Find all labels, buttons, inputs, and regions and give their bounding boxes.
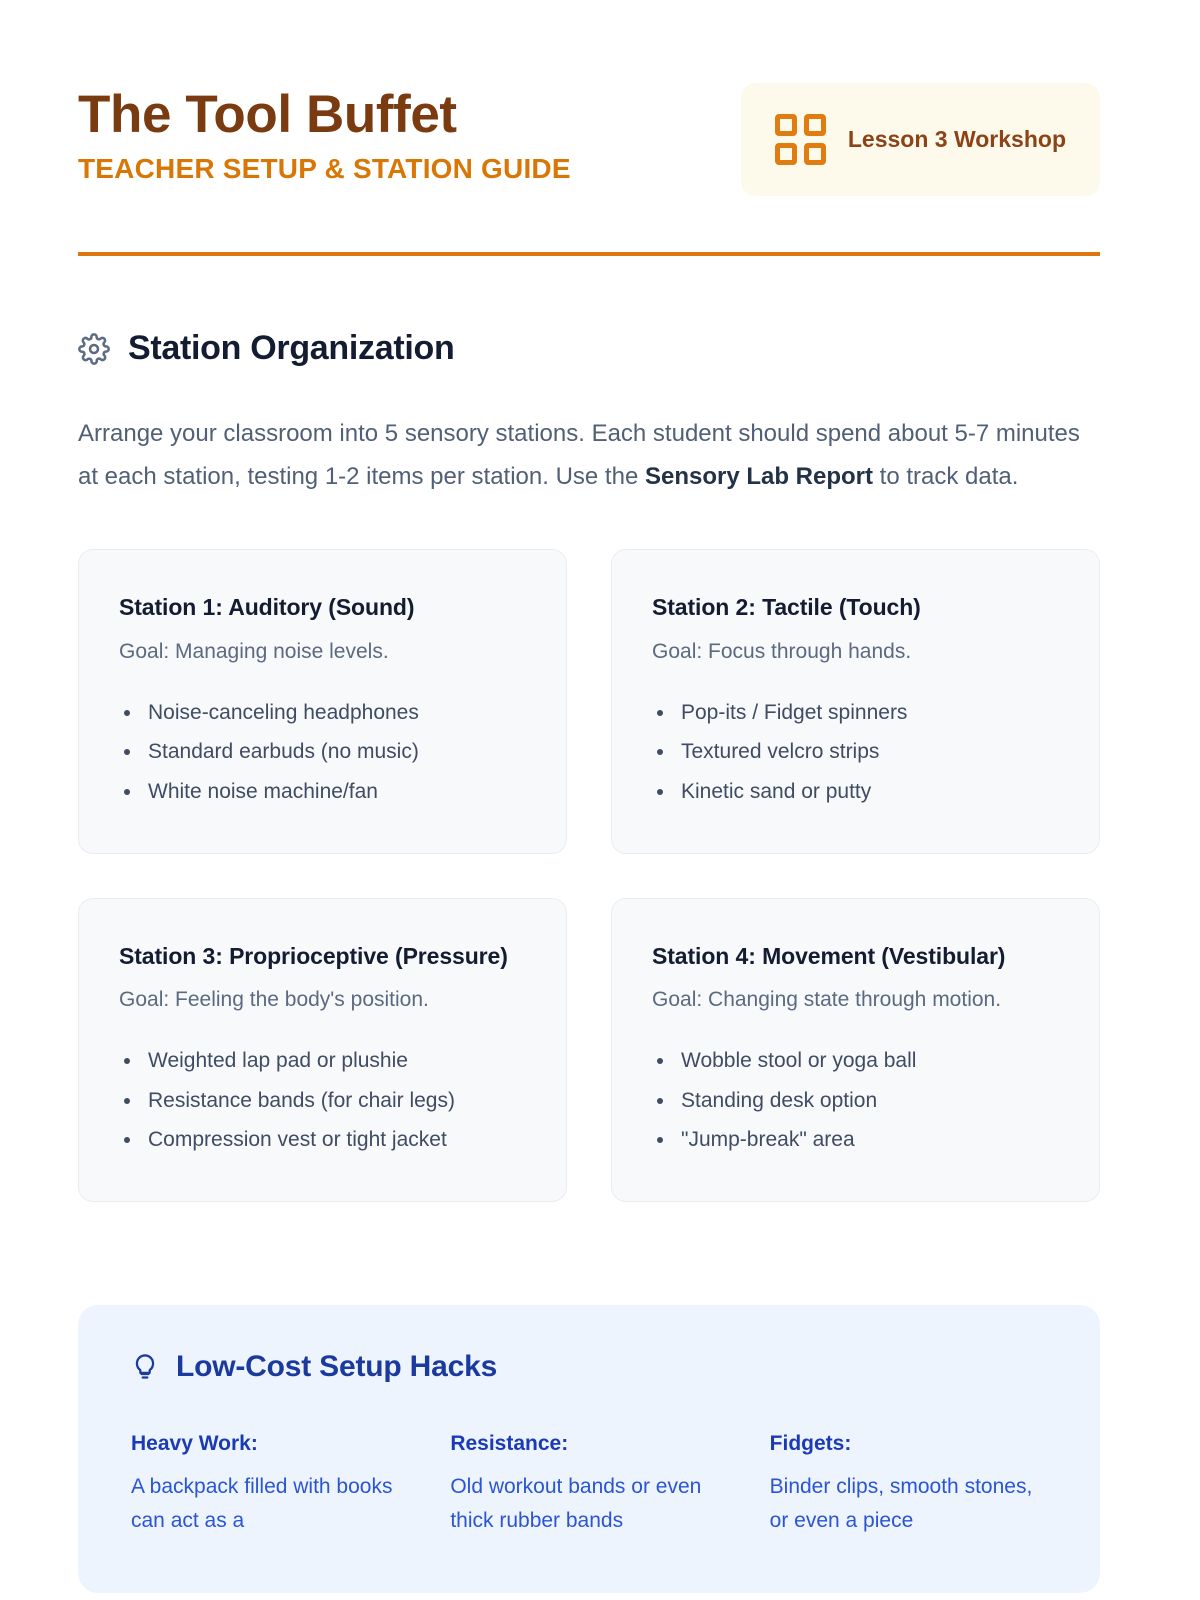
list-item: Kinetic sand or putty [652, 772, 1059, 811]
list-item: Wobble stool or yoga ball [652, 1041, 1059, 1080]
lightbulb-icon [131, 1353, 159, 1381]
station-card-title: Station 3: Proprioceptive (Pressure) [119, 937, 526, 976]
station-item-list: Noise-canceling headphones Standard earb… [119, 693, 526, 811]
hack-label: Heavy Work: [131, 1429, 408, 1458]
station-card-title: Station 2: Tactile (Touch) [652, 588, 1059, 627]
station-card-goal: Goal: Managing noise levels. [119, 636, 526, 668]
list-item: White noise machine/fan [119, 772, 526, 811]
section-title: Station Organization [128, 329, 454, 368]
lesson-badge-label: Lesson 3 Workshop [848, 126, 1066, 153]
station-card[interactable]: Station 2: Tactile (Touch) Goal: Focus t… [611, 549, 1100, 853]
hack-label: Fidgets: [770, 1429, 1047, 1458]
list-item: Textured velcro strips [652, 732, 1059, 771]
lesson-badge[interactable]: Lesson 3 Workshop [741, 83, 1100, 196]
station-item-list: Pop-its / Fidget spinners Textured velcr… [652, 693, 1059, 811]
station-card-goal: Goal: Changing state through motion. [652, 984, 1059, 1016]
station-item-list: Wobble stool or yoga ball Standing desk … [652, 1041, 1059, 1159]
section-intro: Arrange your classroom into 5 sensory st… [78, 413, 1100, 498]
station-card-grid: Station 1: Auditory (Sound) Goal: Managi… [78, 549, 1100, 1202]
station-card[interactable]: Station 1: Auditory (Sound) Goal: Managi… [78, 549, 567, 853]
station-card[interactable]: Station 4: Movement (Vestibular) Goal: C… [611, 898, 1100, 1202]
title-block: The Tool Buffet TEACHER SETUP & STATION … [78, 78, 571, 186]
page-title: The Tool Buffet [78, 86, 571, 143]
hack-column: Heavy Work: A backpack filled with books… [131, 1429, 408, 1537]
section-heading: Station Organization [78, 329, 1100, 368]
intro-bold-term: Sensory Lab Report [645, 463, 873, 490]
station-item-list: Weighted lap pad or plushie Resistance b… [119, 1041, 526, 1159]
list-item: "Jump-break" area [652, 1120, 1059, 1159]
list-item: Pop-its / Fidget spinners [652, 693, 1059, 732]
grid-icon [775, 114, 826, 165]
hacks-heading: Low-Cost Setup Hacks [131, 1350, 1047, 1384]
page-root: The Tool Buffet TEACHER SETUP & STATION … [0, 0, 1200, 1600]
hack-column: Resistance: Old workout bands or even th… [450, 1429, 727, 1537]
hacks-title: Low-Cost Setup Hacks [176, 1350, 497, 1384]
header-divider [78, 252, 1100, 256]
list-item: Standard earbuds (no music) [119, 732, 526, 771]
station-card-goal: Goal: Focus through hands. [652, 636, 1059, 668]
intro-part-2: to track data. [873, 463, 1018, 490]
station-card-goal: Goal: Feeling the body's position. [119, 984, 526, 1016]
hack-text: Old workout bands or even thick rubber b… [450, 1470, 727, 1538]
hacks-column-grid: Heavy Work: A backpack filled with books… [131, 1429, 1047, 1537]
list-item: Standing desk option [652, 1081, 1059, 1120]
station-card-title: Station 1: Auditory (Sound) [119, 588, 526, 627]
hack-text: A backpack filled with books can act as … [131, 1470, 408, 1538]
hack-column: Fidgets: Binder clips, smooth stones, or… [770, 1429, 1047, 1537]
station-card[interactable]: Station 3: Proprioceptive (Pressure) Goa… [78, 898, 567, 1202]
gear-icon [78, 333, 110, 365]
list-item: Compression vest or tight jacket [119, 1120, 526, 1159]
low-cost-hacks-panel: Low-Cost Setup Hacks Heavy Work: A backp… [78, 1305, 1100, 1592]
list-item: Weighted lap pad or plushie [119, 1041, 526, 1080]
station-card-title: Station 4: Movement (Vestibular) [652, 937, 1059, 976]
page-header: The Tool Buffet TEACHER SETUP & STATION … [78, 78, 1100, 196]
list-item: Resistance bands (for chair legs) [119, 1081, 526, 1120]
page-subtitle: TEACHER SETUP & STATION GUIDE [78, 152, 571, 186]
list-item: Noise-canceling headphones [119, 693, 526, 732]
hack-text: Binder clips, smooth stones, or even a p… [770, 1470, 1047, 1538]
hack-label: Resistance: [450, 1429, 727, 1458]
